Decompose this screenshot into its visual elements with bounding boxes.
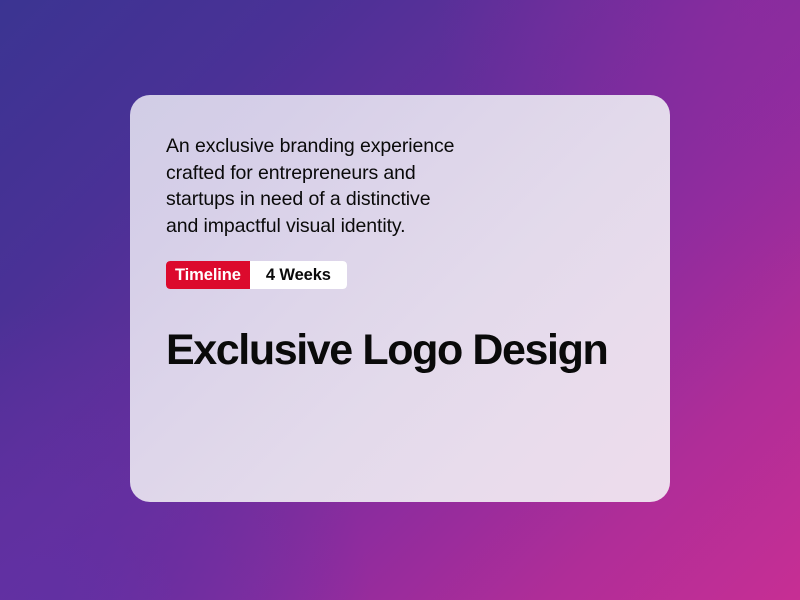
timeline-badge-value: 4 Weeks bbox=[250, 261, 347, 289]
description-line: and impactful visual identity. bbox=[166, 213, 516, 240]
service-card: An exclusive branding experience crafted… bbox=[130, 95, 670, 502]
card-title: Exclusive Logo Design bbox=[166, 325, 630, 375]
background-canvas: An exclusive branding experience crafted… bbox=[0, 0, 800, 600]
card-description: An exclusive branding experience crafted… bbox=[166, 133, 516, 239]
timeline-badge: Timeline 4 Weeks bbox=[166, 261, 347, 289]
timeline-badge-label: Timeline bbox=[166, 261, 250, 289]
description-line: An exclusive branding experience bbox=[166, 133, 516, 160]
description-line: crafted for entrepreneurs and bbox=[166, 160, 516, 187]
description-line: startups in need of a distinctive bbox=[166, 186, 516, 213]
